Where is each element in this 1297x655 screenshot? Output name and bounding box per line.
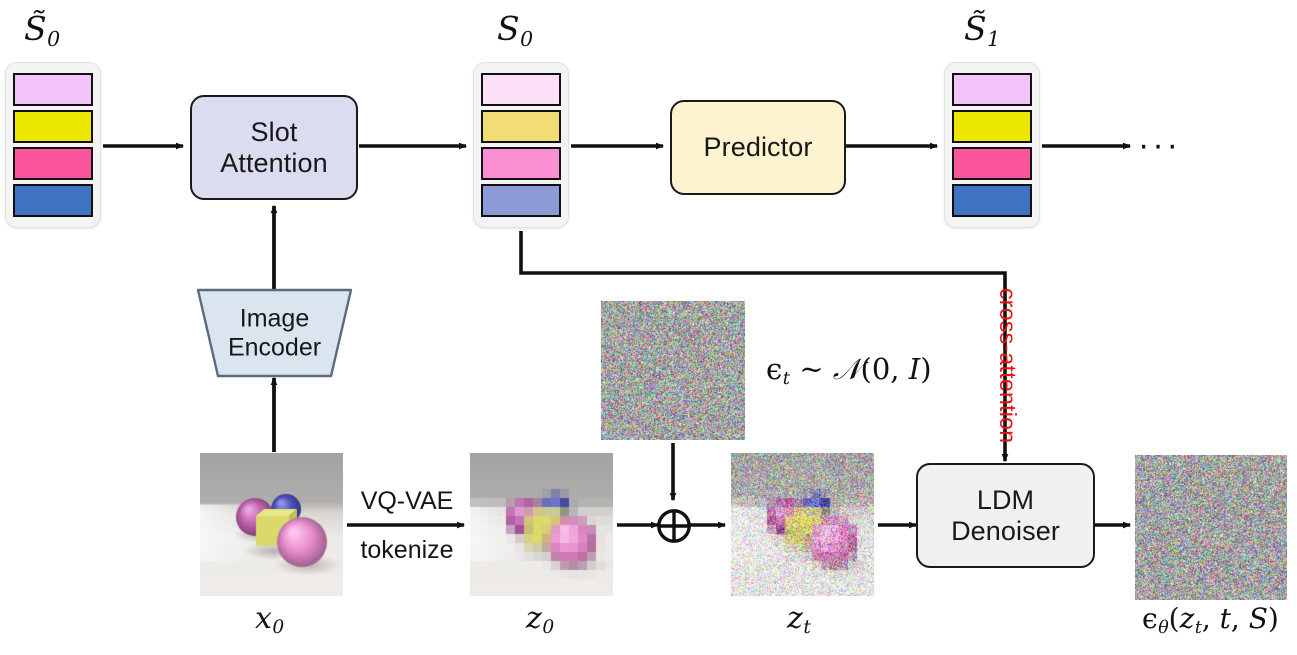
label-x0-sub: 0 bbox=[272, 617, 284, 638]
slot-stack-s0[interactable] bbox=[473, 62, 569, 228]
tokenize-label: tokenize bbox=[355, 536, 459, 566]
clevr-scene-tokenized-canvas bbox=[470, 453, 613, 596]
label-eps-theta-text: ϵ bbox=[1142, 602, 1158, 635]
slot-item bbox=[952, 110, 1032, 143]
slot-attention-block[interactable]: Slot Attention bbox=[190, 95, 358, 200]
image-zt bbox=[731, 453, 874, 596]
slot-attention-line1: Slot bbox=[251, 117, 298, 148]
slot-item bbox=[481, 147, 561, 180]
cross-attention-text: cross-attention bbox=[995, 288, 1021, 443]
label-x0-base: x bbox=[255, 601, 272, 636]
label-z0: z0 bbox=[526, 604, 554, 638]
label-zt-sub: t bbox=[803, 617, 810, 638]
label-s0: S0 bbox=[497, 12, 533, 49]
predictor-label: Predictor bbox=[704, 132, 813, 163]
noise-cal-n: 𝒩 bbox=[833, 352, 861, 386]
ellipsis-label: ··· bbox=[1138, 128, 1181, 162]
image-epsilon-noise bbox=[601, 301, 745, 440]
arrow-s0-crossattention-to-ldm bbox=[521, 231, 1005, 461]
slot-item bbox=[13, 184, 93, 217]
ldm-denoiser-line1: LDM bbox=[977, 485, 1034, 516]
label-s0-tilde: S̃0 bbox=[24, 12, 60, 49]
noise-eps: ϵ bbox=[766, 352, 782, 386]
slot-item bbox=[13, 73, 93, 106]
label-s0-tilde-sub: 0 bbox=[47, 27, 60, 51]
slot-item bbox=[481, 73, 561, 106]
label-s0-base: S bbox=[497, 9, 520, 48]
slot-item bbox=[481, 184, 561, 217]
slot-attention-line2: Attention bbox=[220, 148, 327, 179]
slot-item bbox=[481, 110, 561, 143]
label-s1-tilde-sub: 1 bbox=[987, 27, 1000, 51]
label-zt: zt bbox=[787, 604, 811, 638]
cross-attention-label: cross-attention bbox=[994, 288, 1021, 443]
noise-tilde: ~ bbox=[790, 352, 833, 386]
label-eps-theta-sub: θ bbox=[1158, 618, 1168, 638]
slot-item bbox=[13, 110, 93, 143]
vqvae-label: VQ-VAE bbox=[355, 487, 459, 517]
add-operator bbox=[655, 507, 693, 545]
predicted-noise-canvas bbox=[1135, 455, 1287, 600]
clevr-scene-original-canvas bbox=[200, 453, 343, 596]
image-encoder-shape bbox=[196, 288, 353, 378]
slot-item bbox=[952, 147, 1032, 180]
ldm-denoiser-block[interactable]: LDM Denoiser bbox=[916, 463, 1095, 568]
label-z0-sub: 0 bbox=[542, 617, 554, 638]
ellipsis-text: ··· bbox=[1138, 126, 1181, 164]
diagram-canvas: S̃0 S0 S̃1 Slot Attention Predictor LDM … bbox=[0, 0, 1297, 655]
noise-args: (0, bbox=[861, 352, 909, 386]
label-zt-base: z bbox=[787, 601, 803, 636]
noise-eps-sub: t bbox=[783, 368, 790, 389]
label-eps-theta-args: ( bbox=[1169, 602, 1180, 635]
image-epsilon-output bbox=[1135, 455, 1287, 600]
vqvae-line1: VQ-VAE bbox=[355, 487, 459, 517]
image-encoder-block[interactable]: Image Encoder bbox=[196, 288, 353, 378]
label-z0-base: z bbox=[526, 601, 542, 636]
slot-stack-s0-tilde[interactable] bbox=[5, 62, 101, 228]
vqvae-line2: tokenize bbox=[355, 536, 459, 566]
label-eps-theta: ϵθ(zt, t, S) bbox=[1142, 605, 1279, 637]
image-x0 bbox=[200, 453, 343, 596]
circle-plus-icon bbox=[655, 507, 693, 545]
slot-item bbox=[952, 184, 1032, 217]
slot-item bbox=[952, 73, 1032, 106]
slot-stack-s1-tilde[interactable] bbox=[944, 62, 1040, 228]
label-x0: x0 bbox=[255, 604, 284, 638]
label-s1-tilde-base: S̃ bbox=[964, 9, 987, 48]
label-s0-sub: 0 bbox=[520, 27, 533, 51]
label-s1-tilde: S̃1 bbox=[964, 12, 1000, 49]
label-noise-distribution: ϵt ~ 𝒩(0, I) bbox=[766, 355, 932, 388]
image-z0 bbox=[470, 453, 613, 596]
clevr-scene-noised-canvas bbox=[731, 453, 874, 596]
gaussian-noise-canvas bbox=[601, 301, 745, 440]
ldm-denoiser-line2: Denoiser bbox=[951, 516, 1060, 547]
label-s0-tilde-base: S̃ bbox=[24, 9, 47, 48]
slot-item bbox=[13, 147, 93, 180]
predictor-block[interactable]: Predictor bbox=[670, 100, 846, 195]
